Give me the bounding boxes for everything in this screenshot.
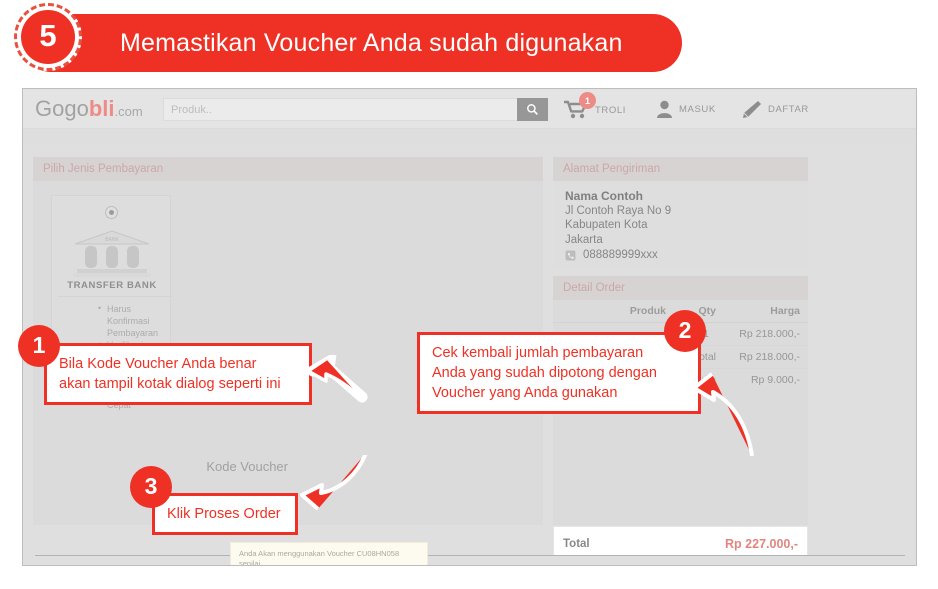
annotation-2-number: 2 (679, 317, 692, 344)
voucher-applied-dialog: Anda Akan menggunakan Voucher CU08HN058 … (230, 542, 428, 566)
recipient-name: Nama Contoh (565, 189, 796, 204)
shipping-address-panel: Alamat Pengiriman Nama Contoh Jl Contoh … (553, 157, 808, 269)
address-panel-body: Nama Contoh Jl Contoh Raya No 9 Kabupate… (553, 181, 808, 269)
annotation-callout-1: Bila Kode Voucher Anda benar akan tampil… (44, 343, 312, 405)
list-item: Harus Konfirmasi Pembayaran (98, 303, 172, 339)
annotation-3-number: 3 (145, 473, 158, 500)
logo-text-1: Gogo (35, 96, 89, 121)
site-footer: Online - Klik di sini untuk chatting (23, 556, 917, 566)
address-phone-row: 088889999xxx (565, 248, 796, 263)
annotation-callout-3: Klik Proses Order (152, 493, 298, 535)
annotation-badge-1: 1 (18, 325, 60, 367)
payment-method-card-transfer-bank[interactable]: BANK TRANSFER BANK Harus Konfirmasi Pemb… (51, 195, 171, 355)
search-input[interactable]: Produk.. (163, 98, 523, 121)
search-icon (526, 103, 539, 116)
cart-count-badge: 1 (579, 92, 596, 109)
annotation-arrow-1 (300, 355, 370, 403)
total-value: Rp 227.000,- (725, 537, 798, 551)
search-button[interactable] (517, 98, 548, 121)
annotation-badge-3: 3 (130, 466, 172, 508)
cart-link[interactable]: 1 TROLI (563, 100, 626, 120)
payment-panel-heading: Pilih Jenis Pembayaran (33, 157, 543, 181)
address-city: Jakarta (565, 233, 796, 248)
annotation-3-line1: Klik Proses Order (167, 504, 283, 524)
step-number-circle: 5 (14, 3, 82, 71)
step-banner: Memastikan Voucher Anda sudah digunakan (22, 14, 682, 72)
total-label: Total (563, 538, 590, 550)
annotation-1-line1: Bila Kode Voucher Anda benar (59, 354, 297, 374)
footer-divider (35, 555, 905, 556)
register-link[interactable]: DAFTAR (741, 100, 809, 119)
site-logo[interactable]: Gogobli.com (35, 96, 143, 122)
order-panel-heading: Detail Order (553, 276, 808, 300)
address-district: Kabupaten Kota (565, 218, 796, 233)
login-label: MASUK (679, 104, 716, 115)
logo-text-2: bli (89, 96, 115, 121)
column-header-harga: Harga (724, 300, 808, 323)
annotation-badge-2: 2 (664, 310, 706, 352)
register-label: DAFTAR (768, 104, 809, 115)
annotation-1-line2: akan tampil kotak dialog seperti ini (59, 374, 297, 394)
payment-method-radio[interactable] (105, 206, 118, 219)
step-number: 5 (21, 10, 75, 64)
annotation-2-line2: Anda yang sudah dipotong dengan (432, 363, 686, 383)
login-link[interactable]: MASUK (656, 100, 716, 118)
sub-navbar (23, 129, 917, 143)
annotation-2-line1: Cek kembali jumlah pembayaran (432, 343, 686, 363)
address-street: Jl Contoh Raya No 9 (565, 204, 796, 219)
payment-method-label: TRANSFER BANK (52, 280, 172, 291)
annotation-callout-2: Cek kembali jumlah pembayaran Anda yang … (417, 332, 701, 414)
step-banner-title: Memastikan Voucher Anda sudah digunakan (120, 29, 623, 58)
bank-icon: BANK (71, 228, 153, 278)
voucher-dialog-line1: Anda Akan menggunakan Voucher CU08HN058 … (239, 549, 419, 566)
subtotal-value: Rp 218.000,- (724, 346, 808, 369)
annotation-arrow-2 (690, 370, 780, 460)
cart-label: TROLI (595, 105, 626, 116)
user-icon (656, 100, 673, 118)
phone-icon (565, 250, 576, 261)
annotation-2-line3: Voucher yang Anda gunakan (432, 383, 686, 403)
logo-text-3: .com (115, 104, 143, 119)
cell-product-price: Rp 218.000,- (724, 323, 808, 346)
svg-text:BANK: BANK (105, 237, 119, 243)
page-root: Memastikan Voucher Anda sudah digunakan … (0, 0, 938, 589)
annotation-arrow-3 (300, 455, 380, 517)
address-panel-heading: Alamat Pengiriman (553, 157, 808, 181)
pencil-icon (741, 100, 762, 119)
site-navbar: Gogobli.com Produk.. 1 TRO (23, 89, 917, 129)
address-phone: 088889999xxx (583, 248, 658, 263)
